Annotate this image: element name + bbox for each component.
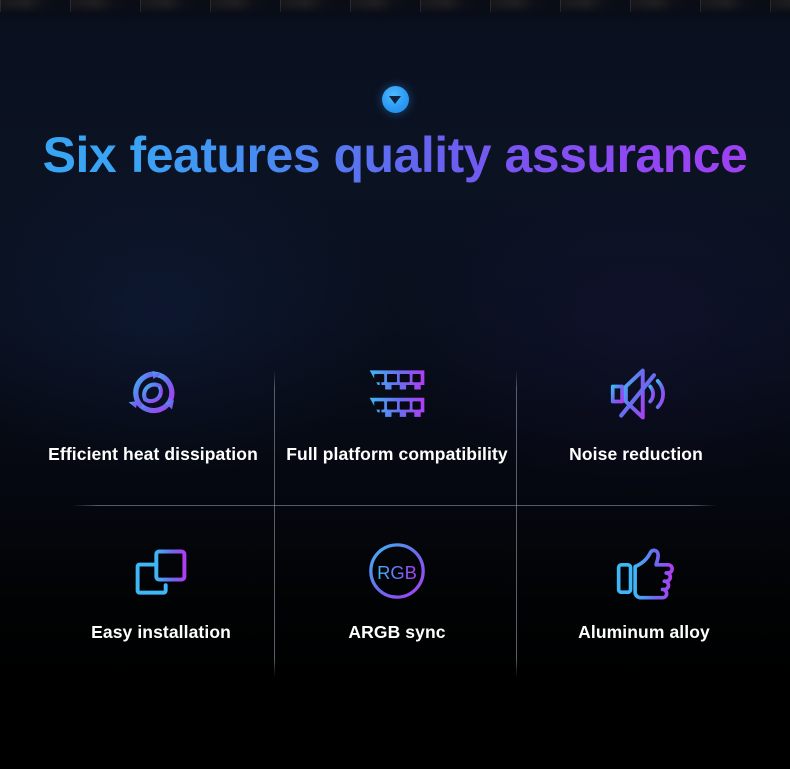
chevron-down-icon bbox=[389, 96, 401, 104]
page-title: Six features quality assurance bbox=[0, 126, 790, 185]
feature-label: Noise reduction bbox=[515, 444, 757, 465]
rgb-circle-icon: RGB bbox=[276, 536, 518, 602]
ram-modules-icon bbox=[276, 358, 518, 424]
feature-grid: Efficient heat dissipation bbox=[0, 358, 790, 678]
feature-label: ARGB sync bbox=[276, 622, 518, 643]
feature-label: Full platform compatibility bbox=[276, 444, 518, 465]
scroll-down-badge-wrap bbox=[0, 86, 790, 113]
thumbs-up-icon bbox=[526, 536, 768, 602]
feature-showcase-panel: Six features quality assurance bbox=[0, 0, 790, 769]
feature-item-full-platform-compatibility[interactable]: Full platform compatibility bbox=[276, 358, 518, 465]
fan-swirl-icon bbox=[32, 358, 274, 424]
feature-item-noise-reduction[interactable]: Noise reduction bbox=[518, 358, 760, 465]
rgb-icon-text: RGB bbox=[377, 562, 417, 583]
feature-label: Aluminum alloy bbox=[523, 622, 765, 643]
feature-item-argb-sync[interactable]: RGB ARGB sync bbox=[276, 536, 518, 643]
feature-label: Efficient heat dissipation bbox=[32, 444, 274, 465]
grid-divider-horizontal bbox=[72, 505, 717, 506]
feature-item-easy-installation[interactable]: Easy installation bbox=[40, 536, 282, 643]
feature-item-efficient-heat-dissipation[interactable]: Efficient heat dissipation bbox=[32, 358, 274, 465]
muted-speaker-icon bbox=[518, 358, 760, 424]
scroll-down-button[interactable] bbox=[382, 86, 409, 113]
feature-item-aluminum-alloy[interactable]: Aluminum alloy bbox=[526, 536, 768, 643]
feature-label: Easy installation bbox=[40, 622, 282, 643]
top-photo-strip-lines bbox=[0, 0, 790, 12]
overlapping-squares-icon bbox=[40, 536, 282, 602]
